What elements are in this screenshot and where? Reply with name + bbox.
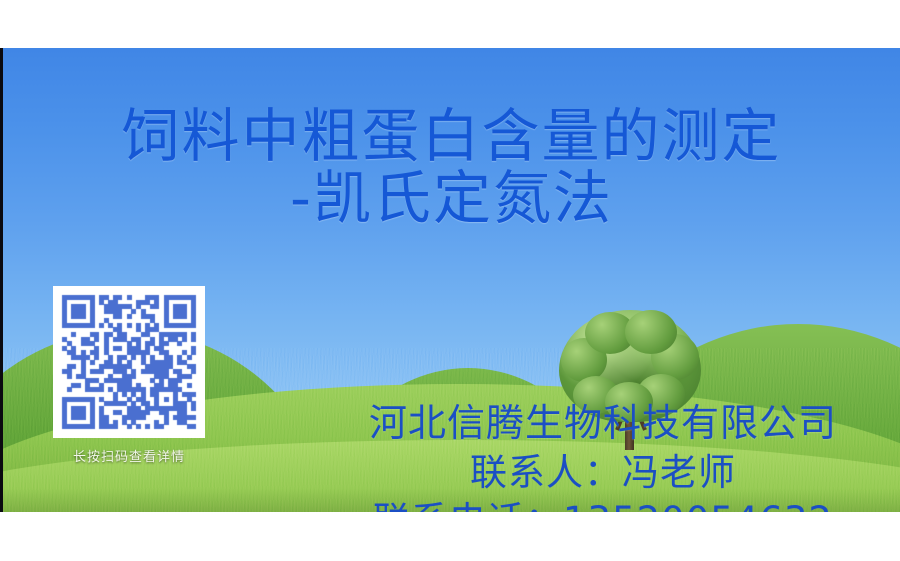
tree-leaf-cluster [605, 382, 653, 422]
top-white-band [0, 0, 900, 48]
qr-code-image[interactable] [53, 286, 205, 438]
qr-panel[interactable]: 长按扫码查看详情 [53, 286, 205, 465]
qr-canvas[interactable] [53, 286, 205, 438]
video-player-stage[interactable]: 饲料中粗蛋白含量的测定 -凯氏定氮法 长按扫码查看详情 河北信腾生物科技有限公司… [0, 48, 900, 512]
qr-caption-label: 长按扫码查看详情 [53, 446, 205, 465]
tree-graphic [555, 310, 705, 450]
bottom-white-band [0, 512, 900, 561]
tree-leaf-cluster [625, 310, 677, 354]
page-root: 饲料中粗蛋白含量的测定 -凯氏定氮法 长按扫码查看详情 河北信腾生物科技有限公司… [0, 0, 900, 561]
